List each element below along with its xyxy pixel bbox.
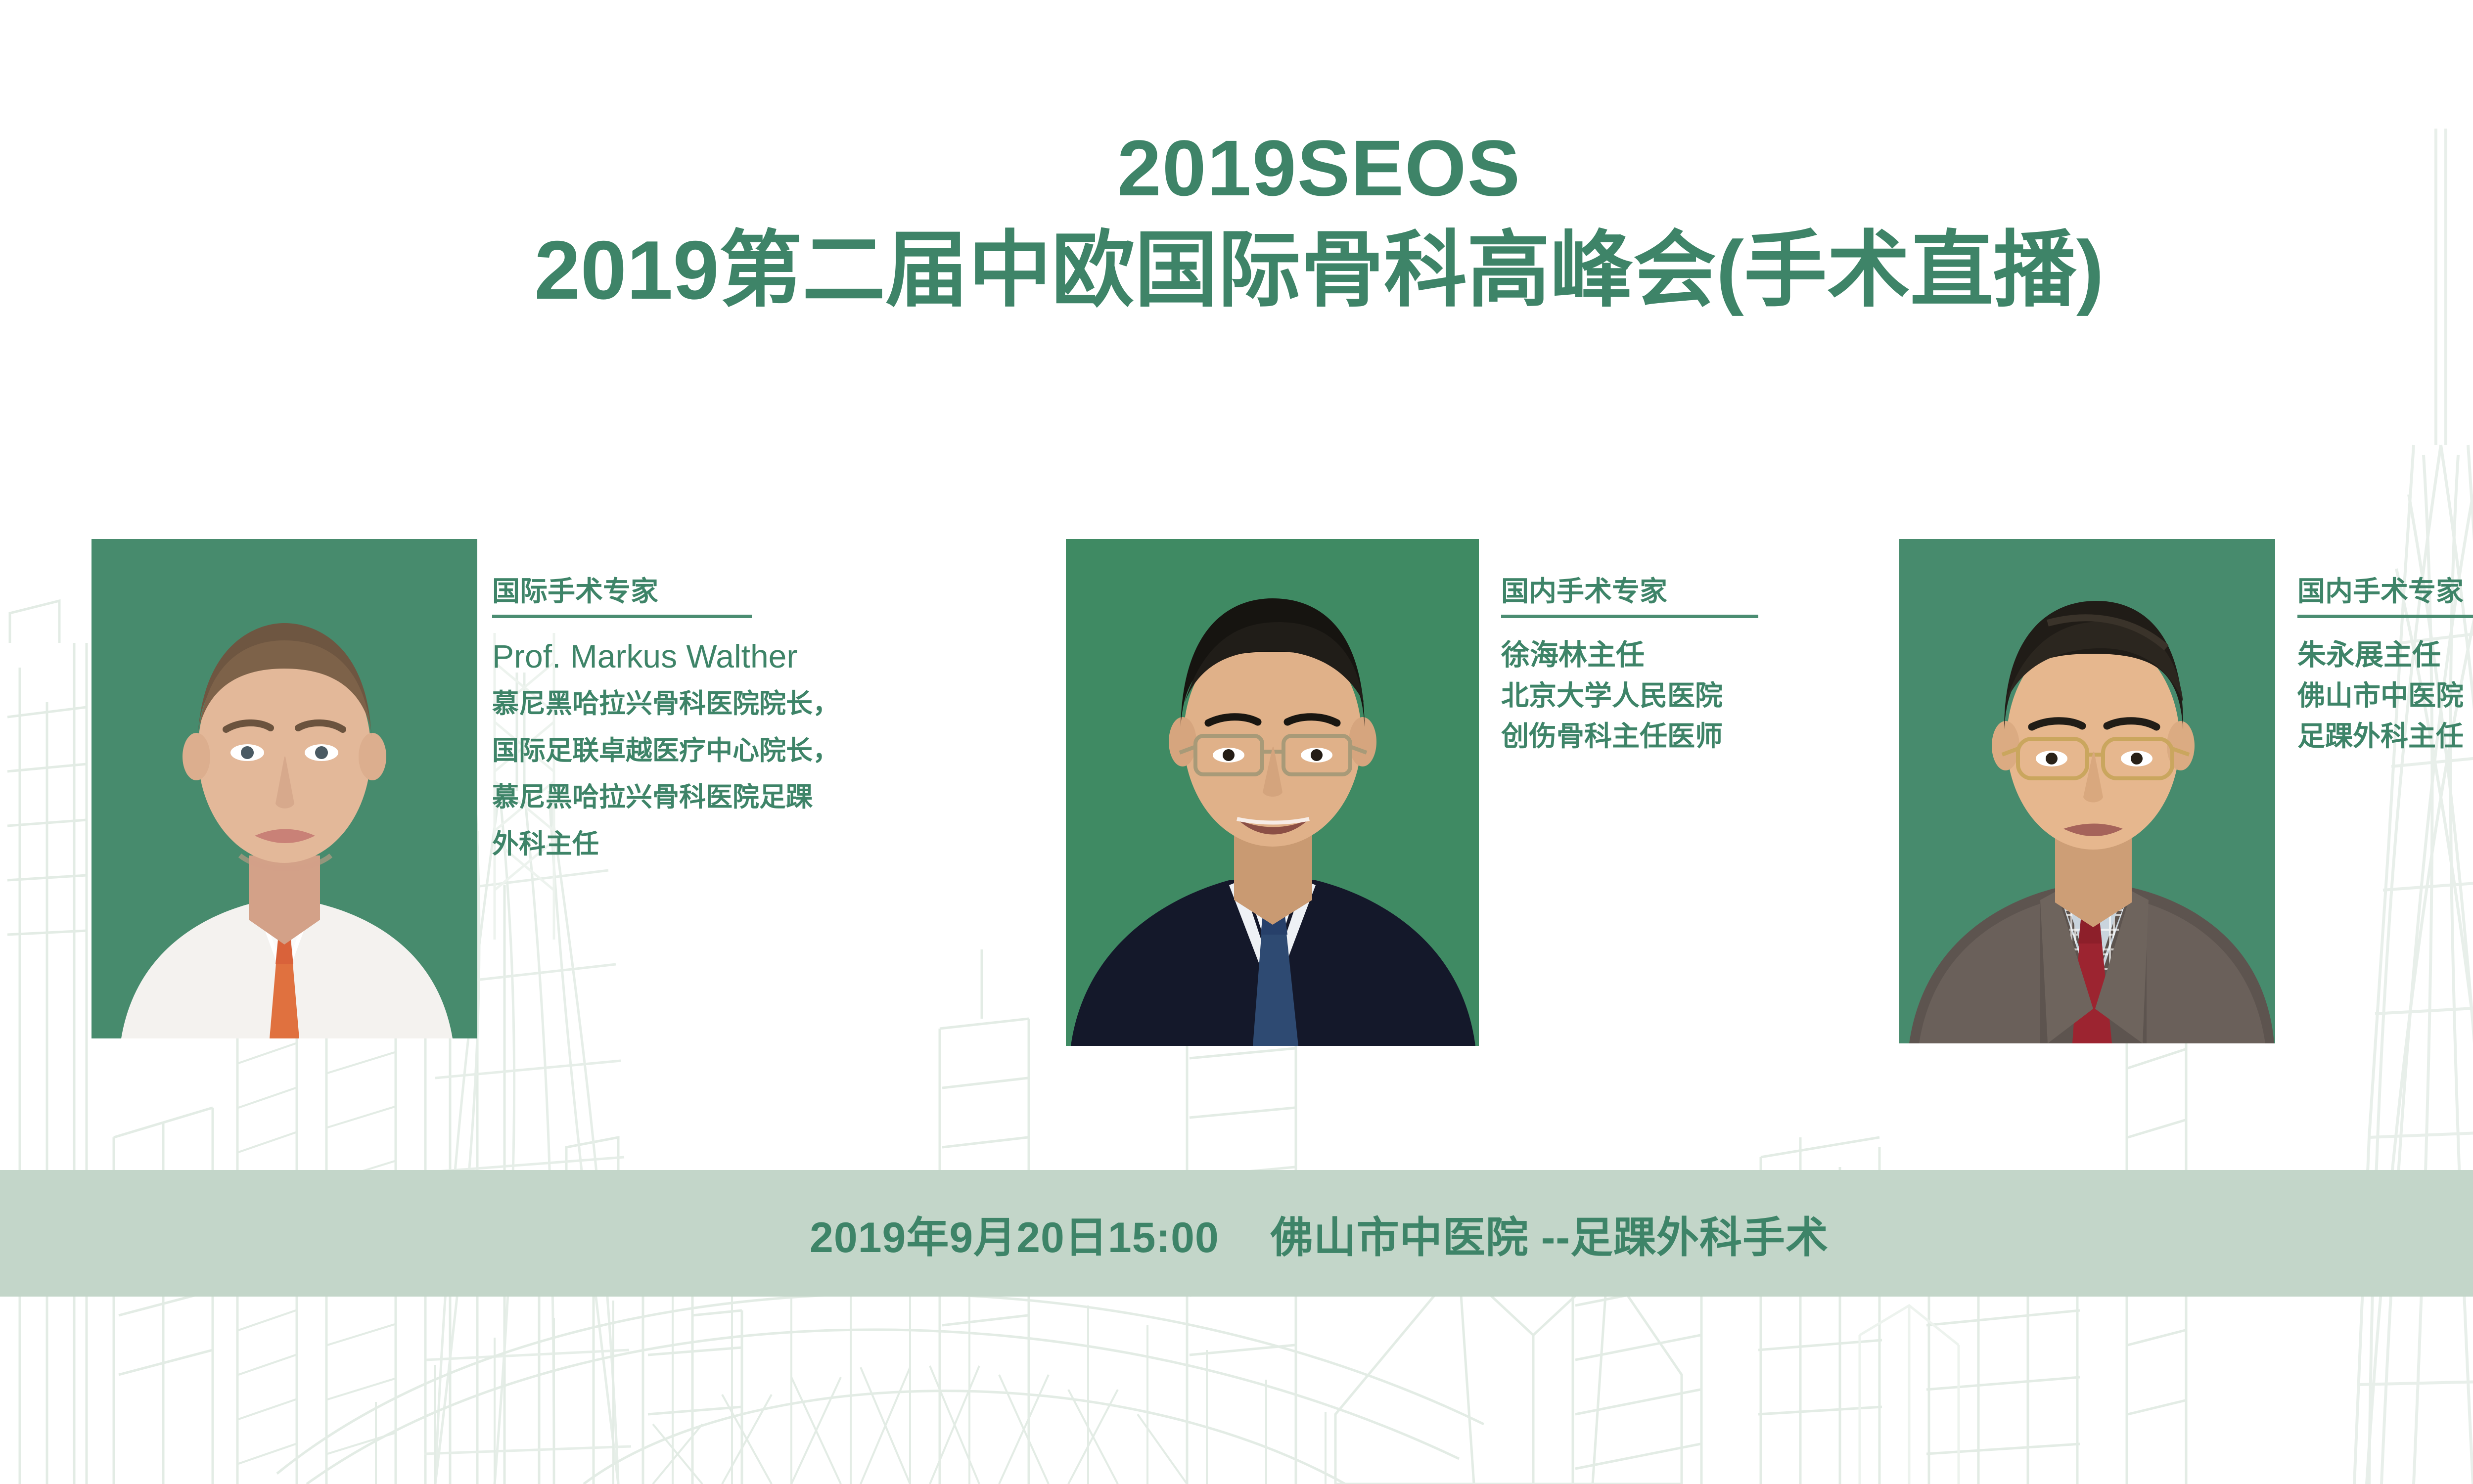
experts-row: 国际手术专家 Prof. Markus Walther 慕尼黑哈拉兴骨科医院院长… xyxy=(0,529,2473,1053)
poster-title-block: 2019SEOS 2019第二届中欧国际骨科高峰会(手术直播) xyxy=(0,129,2473,321)
page-title-secondary: 2019第二届中欧国际骨科高峰会(手术直播) xyxy=(0,220,2473,321)
expert-1-role: 国际手术专家 xyxy=(492,576,1076,607)
expert-3-credential-2: 足踝外科主任 xyxy=(2297,716,2473,757)
expert-3-credential-1: 佛山市中医院 xyxy=(2297,675,2473,716)
expert-3-role: 国内手术专家 xyxy=(2297,576,2473,607)
expert-1-divider xyxy=(492,615,752,618)
expert-2-name: 徐海林主任 xyxy=(1501,635,1847,675)
expert-2-role: 国内手术专家 xyxy=(1501,576,1847,607)
expert-3-info: 国内手术专家 朱永展主任 佛山市中医院 足踝外科主任 xyxy=(2297,576,2473,756)
event-location: 佛山市中医院 --足踝外科手术 xyxy=(1271,1214,1829,1261)
expert-2-info: 国内手术专家 徐海林主任 北京大学人民医院 创伤骨科主任医师 xyxy=(1501,576,1847,756)
expert-card-3: 国内手术专家 朱永展主任 佛山市中医院 足踝外科主任 xyxy=(1899,529,2473,1043)
expert-1-credential-3: 慕尼黑哈拉兴骨科医院足踝 xyxy=(492,779,1076,815)
expert-1-credential-2: 国际足联卓越医疗中心院长， xyxy=(492,733,1076,768)
expert-2-divider xyxy=(1501,615,1758,618)
expert-3-name: 朱永展主任 xyxy=(2297,635,2473,675)
expert-3-photo xyxy=(1899,539,2275,1043)
event-datetime: 2019年9月20日15:00 xyxy=(810,1214,1219,1261)
expert-1-credential-1: 慕尼黑哈拉兴骨科医院院长， xyxy=(492,686,1076,721)
expert-card-1: 国际手术专家 Prof. Markus Walther 慕尼黑哈拉兴骨科医院院长… xyxy=(92,529,1081,1043)
expert-2-credential-1: 北京大学人民医院 xyxy=(1501,675,1847,716)
expert-1-credential-4: 外科主任 xyxy=(492,826,1076,862)
expert-2-credential-2: 创伤骨科主任医师 xyxy=(1501,716,1847,757)
page-title-primary: 2019SEOS xyxy=(0,129,2473,208)
expert-2-photo xyxy=(1066,539,1479,1046)
expert-1-photo xyxy=(92,539,477,1038)
event-info-text: 2019年9月20日15:00佛山市中医院 --足踝外科手术 xyxy=(0,1203,2473,1264)
expert-card-2: 国内手术专家 徐海林主任 北京大学人民医院 创伤骨科主任医师 xyxy=(1066,529,1857,1043)
expert-1-info: 国际手术专家 Prof. Markus Walther 慕尼黑哈拉兴骨科医院院长… xyxy=(492,576,1076,862)
expert-1-name: Prof. Markus Walther xyxy=(492,638,1076,675)
event-info-banner: 2019年9月20日15:00佛山市中医院 --足踝外科手术 xyxy=(0,1170,2473,1297)
expert-3-divider xyxy=(2297,615,2473,618)
